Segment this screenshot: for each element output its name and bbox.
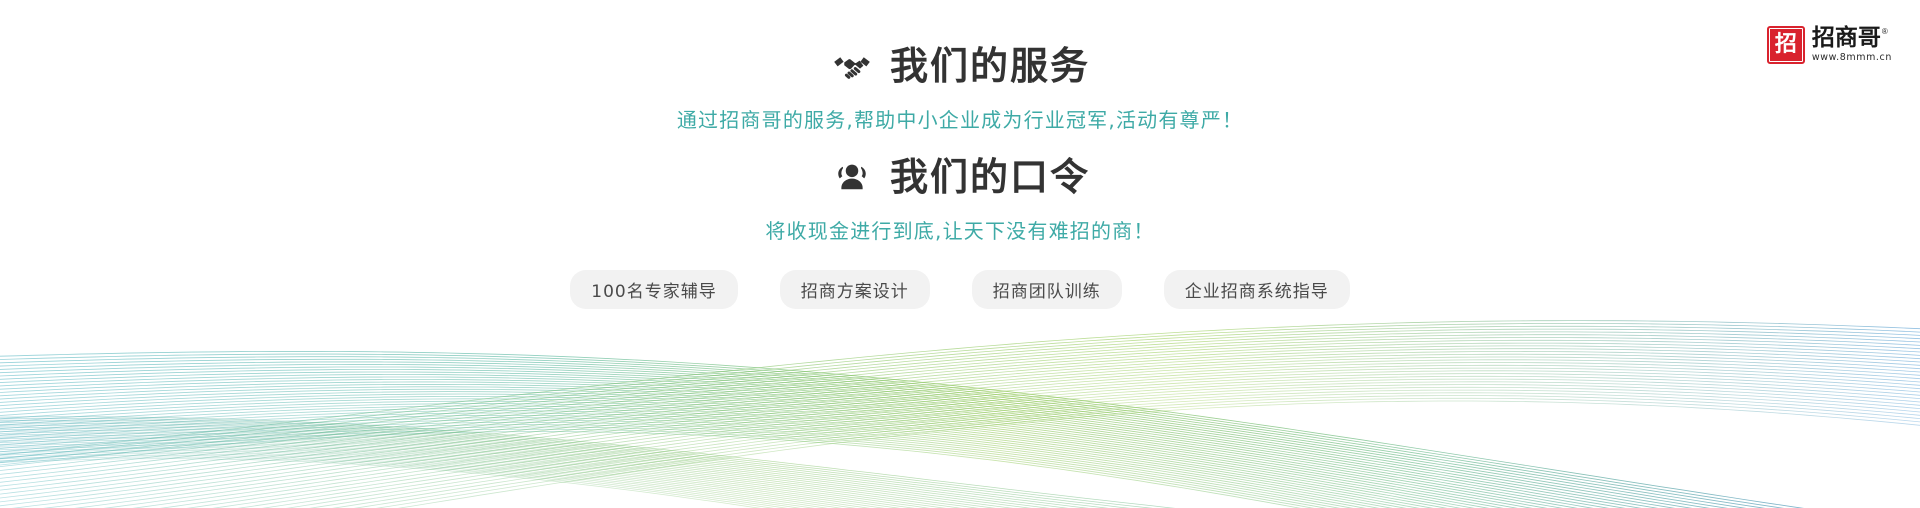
- logo-mark-icon: 招: [1767, 26, 1805, 64]
- service-tag[interactable]: 100名专家辅导: [570, 270, 737, 309]
- service-tag[interactable]: 招商方案设计: [780, 270, 930, 309]
- logo-text: 招商哥 ® www.8mmm.cn: [1812, 27, 1892, 63]
- service-tag-list: 100名专家辅导 招商方案设计 招商团队训练 企业招商系统指导: [0, 270, 1920, 309]
- logo-website-url: www.8mmm.cn: [1812, 53, 1892, 63]
- banner-content: 我们的服务 通过招商哥的服务,帮助中小企业成为行业冠军,活动有尊严！ 我们的口令…: [0, 0, 1920, 309]
- service-tag[interactable]: 企业招商系统指导: [1164, 270, 1350, 309]
- service-banner: 招 招商哥 ® www.8mmm.cn: [0, 0, 1920, 508]
- section-heading-service: 我们的服务: [0, 46, 1920, 88]
- people-group-icon: [830, 158, 874, 198]
- section-title: 我们的服务: [890, 46, 1090, 88]
- brand-logo[interactable]: 招 招商哥 ® www.8mmm.cn: [1767, 26, 1892, 64]
- section-heading-slogan: 我们的口令: [0, 157, 1920, 199]
- section-title: 我们的口令: [890, 157, 1090, 199]
- registered-trademark-icon: ®: [1882, 28, 1888, 36]
- logo-brand-name: 招商哥: [1812, 27, 1881, 50]
- service-tag[interactable]: 招商团队训练: [972, 270, 1122, 309]
- section-subtitle: 将收现金进行到底,让天下没有难招的商！: [0, 215, 1920, 244]
- logo-mark-glyph: 招: [1775, 34, 1797, 56]
- section-subtitle: 通过招商哥的服务,帮助中小企业成为行业冠军,活动有尊严！: [0, 104, 1920, 133]
- handshake-icon: [830, 47, 874, 87]
